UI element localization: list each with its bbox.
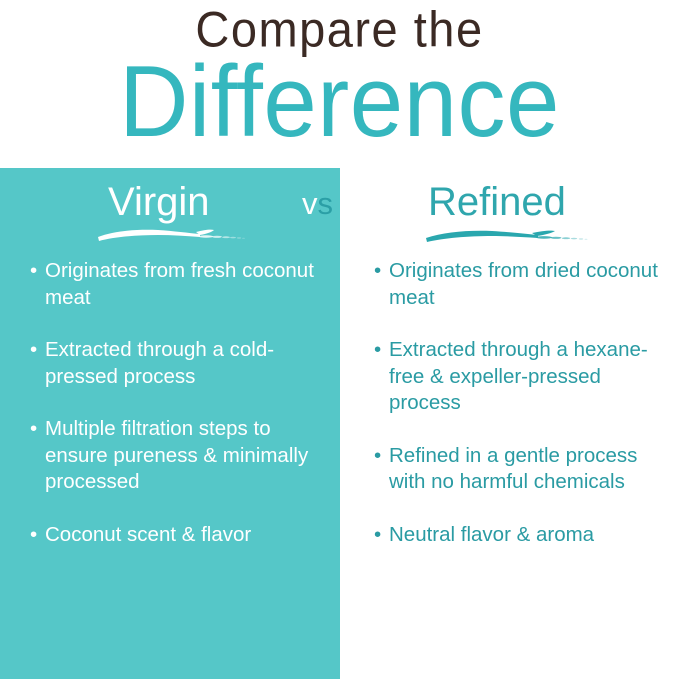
bullet-dot-icon: • (374, 522, 381, 549)
list-item-label: Coconut scent & flavor (45, 523, 251, 546)
list-item: • Multiple filtration steps to ensure pu… (30, 416, 330, 496)
versus-label-first: v (302, 186, 318, 221)
bullet-dot-icon: • (374, 443, 381, 470)
list-item: • Extracted through a cold-pressed proce… (30, 337, 330, 390)
versus-label-rest: s (318, 186, 334, 221)
list-item: • Coconut scent & flavor (30, 522, 330, 549)
column-headings: Virgin vs Refined (0, 168, 679, 258)
list-item: • Refined in a gentle process with no ha… (374, 443, 664, 496)
list-item: • Extracted through a hexane-free & expe… (374, 337, 664, 417)
list-item-label: Multiple filtration steps to ensure pure… (45, 417, 308, 493)
column-heading-refined: Refined (428, 180, 566, 224)
bullet-dot-icon: • (30, 337, 37, 364)
list-item-label: Neutral flavor & aroma (389, 523, 594, 546)
comparison-infographic: Compare the Difference Virgin vs Refined (0, 0, 679, 679)
bullet-dot-icon: • (30, 522, 37, 549)
brush-underline-virgin-icon (96, 224, 248, 246)
bullet-dot-icon: • (30, 416, 37, 443)
list-item-label: Originates from dried coconut meat (389, 259, 658, 309)
list-item-label: Originates from fresh coconut meat (45, 259, 314, 309)
bullet-dot-icon: • (374, 258, 381, 285)
bullet-dot-icon: • (30, 258, 37, 285)
refined-bullet-list: • Originates from dried coconut meat • E… (374, 258, 664, 548)
list-item-label: Extracted through a cold-pressed process (45, 338, 274, 388)
list-item: • Originates from dried coconut meat (374, 258, 664, 311)
virgin-bullet-list: • Originates from fresh coconut meat • E… (30, 258, 330, 548)
brush-underline-refined-icon (424, 224, 590, 246)
column-heading-virgin: Virgin (108, 180, 210, 224)
page-title-line-2: Difference (0, 48, 679, 157)
list-item-label: Extracted through a hexane-free & expell… (389, 338, 648, 414)
list-item: • Originates from fresh coconut meat (30, 258, 330, 311)
list-item-label: Refined in a gentle process with no harm… (389, 444, 637, 494)
versus-label: vs (302, 187, 333, 221)
bullet-dot-icon: • (374, 337, 381, 364)
list-item: • Neutral flavor & aroma (374, 522, 664, 549)
header: Compare the Difference (0, 0, 679, 168)
